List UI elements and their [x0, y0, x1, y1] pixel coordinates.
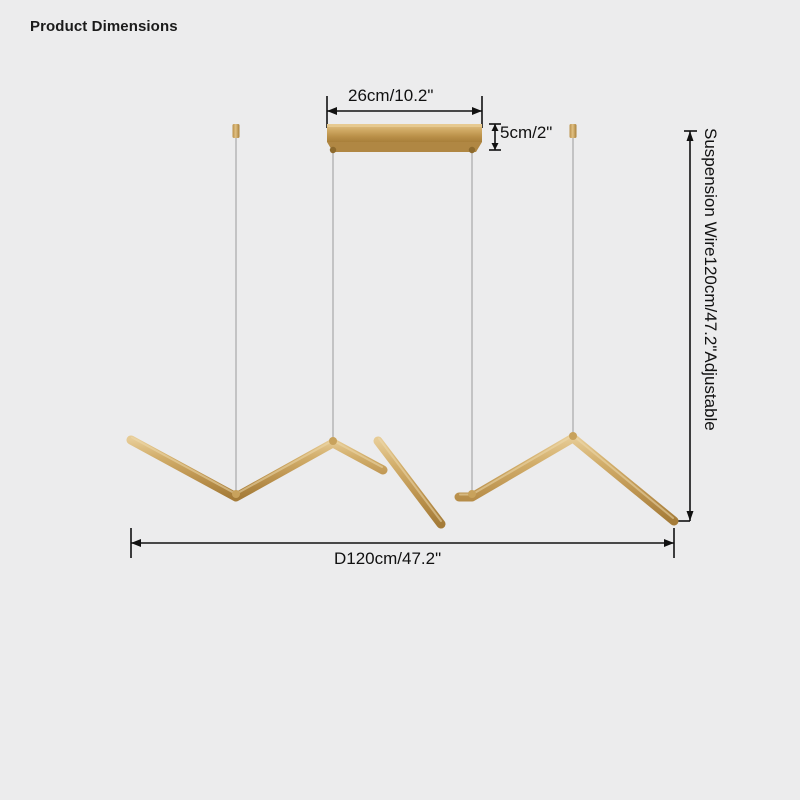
overall-width-label: D120cm/47.2" [334, 549, 441, 569]
suspension-wire-label: Suspension Wire120cm/47.2"Adjustable [702, 128, 719, 431]
top-plate-width-label: 26cm/10.2" [348, 86, 433, 106]
ceiling-plate [327, 124, 482, 153]
plate-height-label: 5cm/2" [500, 123, 552, 143]
dimension-drawing [0, 0, 800, 800]
product-dimensions-diagram: Product Dimensions [0, 0, 800, 800]
suspension-wires [236, 131, 573, 492]
suspension-dimension [676, 131, 697, 521]
